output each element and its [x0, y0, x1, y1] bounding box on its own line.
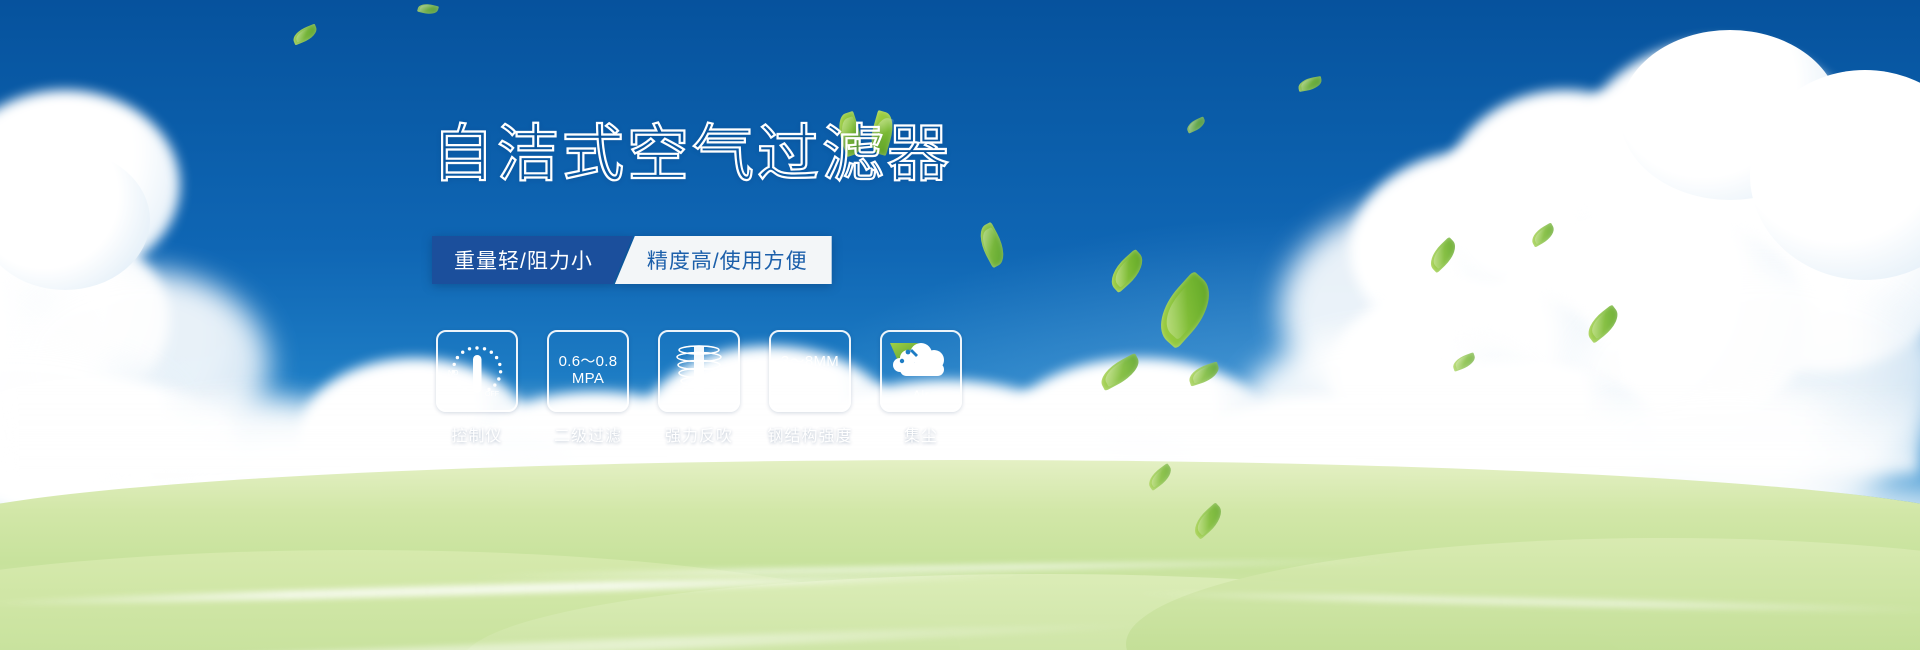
page-title: 自洁式空气过滤器: [432, 124, 1192, 186]
feature-item-steel[interactable]: 3～8MM 钢板 钢结构强度: [769, 330, 851, 446]
cloud-air-icon: Air: [888, 341, 954, 401]
feature-box: 0.6～0.8 MPA: [547, 330, 629, 412]
feature-list: NO OFF 控制仪 0.6～0.8 MPA 二级过滤: [436, 330, 962, 446]
air-label: Air: [888, 388, 954, 402]
grass-field: [0, 460, 1920, 650]
title-block: 自洁式空气过滤器: [432, 124, 1192, 186]
feature-item-dust[interactable]: Air 集尘: [880, 330, 962, 446]
feature-box: Air: [880, 330, 962, 412]
feature-label: 控制仪: [451, 422, 502, 446]
steel-plate-text: 3～8MM 钢板: [781, 354, 839, 388]
product-hero-banner: 自洁式空气过滤器 重量轻/阻力小 精度高/使用方便: [0, 0, 1920, 650]
gauge-icon: NO OFF: [445, 339, 509, 403]
tagline-tab-secondary[interactable]: 精度高/使用方便: [615, 236, 832, 284]
feature-box: 3～8MM 钢板: [769, 330, 851, 412]
tagline-tab-primary[interactable]: 重量轻/阻力小: [432, 236, 633, 284]
feature-label: 集尘: [904, 422, 938, 446]
feature-label: 强力反吹: [665, 422, 733, 446]
tagline-tab-primary-label: 重量轻/阻力小: [454, 245, 593, 275]
feature-item-pressure[interactable]: 0.6～0.8 MPA 二级过滤: [547, 330, 629, 446]
feature-label: 钢结构强度: [768, 422, 853, 446]
pressure-text: 0.6～0.8 MPA: [559, 354, 618, 388]
gauge-label-off: OFF: [485, 391, 499, 398]
feature-item-controller[interactable]: NO OFF 控制仪: [436, 330, 518, 446]
feature-box: NO OFF: [436, 330, 518, 412]
tagline-tab-secondary-label: 精度高/使用方便: [647, 245, 808, 275]
tagline-tabs: 重量轻/阻力小 精度高/使用方便: [432, 236, 832, 284]
filter-stack-icon: [669, 342, 729, 400]
gauge-label-no: NO: [448, 370, 459, 377]
feature-label: 二级过滤: [554, 422, 622, 446]
feature-item-backblow[interactable]: 强力反吹: [658, 330, 740, 446]
feature-box: [658, 330, 740, 412]
